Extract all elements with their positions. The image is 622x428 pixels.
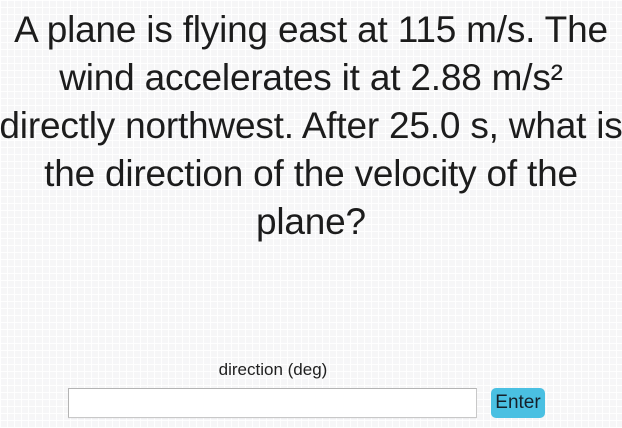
direction-field-label: direction (deg) <box>68 360 478 380</box>
answer-area: direction (deg) Enter <box>0 360 622 380</box>
question-prompt: A plane is flying east at 115 m/s. The w… <box>0 6 622 246</box>
problem-page: A plane is flying east at 115 m/s. The w… <box>0 0 622 428</box>
direction-input[interactable] <box>68 388 477 418</box>
enter-button[interactable]: Enter <box>491 388 545 418</box>
answer-input-row: Enter <box>0 388 622 428</box>
